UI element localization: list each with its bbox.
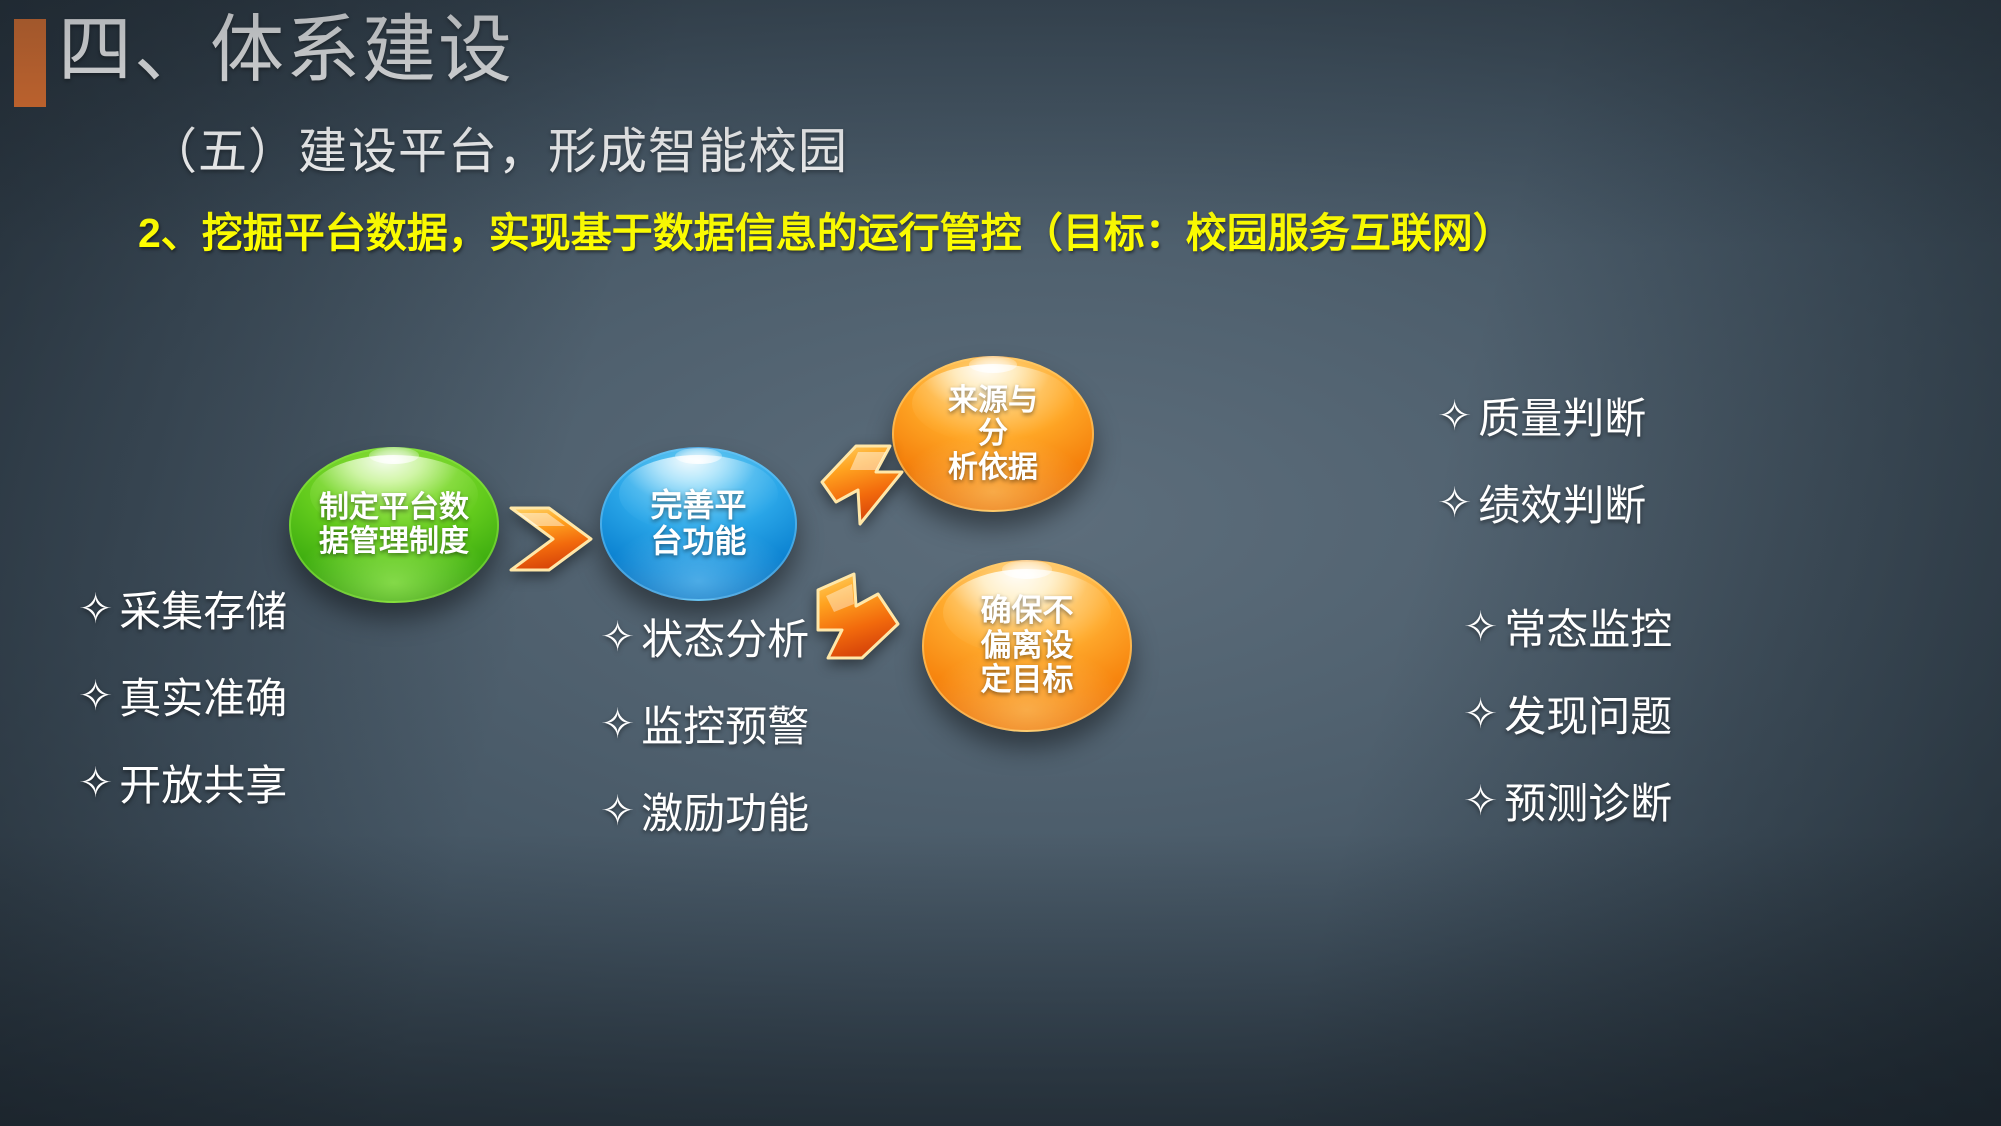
bullet-list-right-top: ✧ 质量判断 ✧ 绩效判断 xyxy=(1437,385,1646,559)
diamond-bullet-icon: ✧ xyxy=(1437,482,1472,524)
diamond-bullet-icon: ✧ xyxy=(78,762,113,804)
list-item-label: 监控预警 xyxy=(641,693,809,754)
list-item: ✧ 监控预警 xyxy=(600,693,809,754)
page-title: 四、体系建设 xyxy=(58,13,514,87)
diamond-bullet-icon: ✧ xyxy=(600,616,635,658)
diagram-node-orange-bottom[interactable]: 确保不 偏离设 定目标 xyxy=(922,560,1132,732)
list-item: ✧ 状态分析 xyxy=(600,606,809,667)
diamond-bullet-icon: ✧ xyxy=(600,703,635,745)
diagram-node-green-label: 制定平台数 据管理制度 xyxy=(319,491,469,558)
bullet-list-middle: ✧ 状态分析 ✧ 监控预警 ✧ 激励功能 xyxy=(600,606,809,867)
list-item: ✧ 真实准确 xyxy=(78,665,287,726)
list-item-label: 真实准确 xyxy=(119,665,287,726)
diagram-node-green[interactable]: 制定平台数 据管理制度 xyxy=(289,447,499,603)
diamond-bullet-icon: ✧ xyxy=(600,790,635,832)
list-item: ✧ 绩效判断 xyxy=(1437,472,1646,533)
cap-highlight xyxy=(969,356,1017,373)
arrow-up-right-icon xyxy=(818,438,906,530)
list-item: ✧ 质量判断 xyxy=(1437,385,1646,446)
section-subtitle: （五）建设平台，形成智能校园 xyxy=(148,128,848,177)
list-item-label: 绩效判断 xyxy=(1478,472,1646,533)
bullet-list-right-bottom: ✧ 常态监控 ✧ 发现问题 ✧ 预测诊断 xyxy=(1463,596,1672,857)
diagram-node-orange-top[interactable]: 来源与 分 析依据 xyxy=(892,356,1094,512)
diamond-bullet-icon: ✧ xyxy=(1463,693,1498,735)
list-item: ✧ 开放共享 xyxy=(78,752,287,813)
cap-highlight xyxy=(1002,560,1051,578)
cap-highlight xyxy=(369,447,418,464)
highlight-heading: 2、挖掘平台数据，实现基于数据信息的运行管控（目标：校园服务互联网） xyxy=(138,213,1514,254)
list-item: ✧ 发现问题 xyxy=(1463,683,1672,744)
list-item: ✧ 采集存储 xyxy=(78,578,287,639)
list-item: ✧ 常态监控 xyxy=(1463,596,1672,657)
list-item-label: 激励功能 xyxy=(641,780,809,841)
diamond-bullet-icon: ✧ xyxy=(78,675,113,717)
list-item: ✧ 激励功能 xyxy=(600,780,809,841)
diamond-bullet-icon: ✧ xyxy=(78,588,113,630)
diagram-node-orange-bottom-label: 确保不 偏离设 定目标 xyxy=(981,594,1074,698)
accent-bar xyxy=(14,19,46,107)
diamond-bullet-icon: ✧ xyxy=(1437,395,1472,437)
slide-canvas: 四、体系建设 （五）建设平台，形成智能校园 2、挖掘平台数据，实现基于数据信息的… xyxy=(0,0,2001,1126)
list-item: ✧ 预测诊断 xyxy=(1463,770,1672,831)
list-item-label: 采集存储 xyxy=(119,578,287,639)
list-item-label: 状态分析 xyxy=(641,606,809,667)
list-item-label: 开放共享 xyxy=(119,752,287,813)
diagram-node-blue[interactable]: 完善平 台功能 xyxy=(600,447,797,601)
bullet-list-left: ✧ 采集存储 ✧ 真实准确 ✧ 开放共享 xyxy=(78,578,287,839)
diagram-node-blue-label: 完善平 台功能 xyxy=(650,488,746,560)
cap-highlight xyxy=(675,448,721,465)
diamond-bullet-icon: ✧ xyxy=(1463,780,1498,822)
arrow-right-icon xyxy=(505,502,597,576)
list-item-label: 发现问题 xyxy=(1504,683,1672,744)
arrow-down-right-icon xyxy=(812,568,902,664)
list-item-label: 常态监控 xyxy=(1504,596,1672,657)
diamond-bullet-icon: ✧ xyxy=(1463,606,1498,648)
list-item-label: 预测诊断 xyxy=(1504,770,1672,831)
list-item-label: 质量判断 xyxy=(1478,385,1646,446)
diagram-node-orange-top-label: 来源与 分 析依据 xyxy=(948,384,1038,485)
